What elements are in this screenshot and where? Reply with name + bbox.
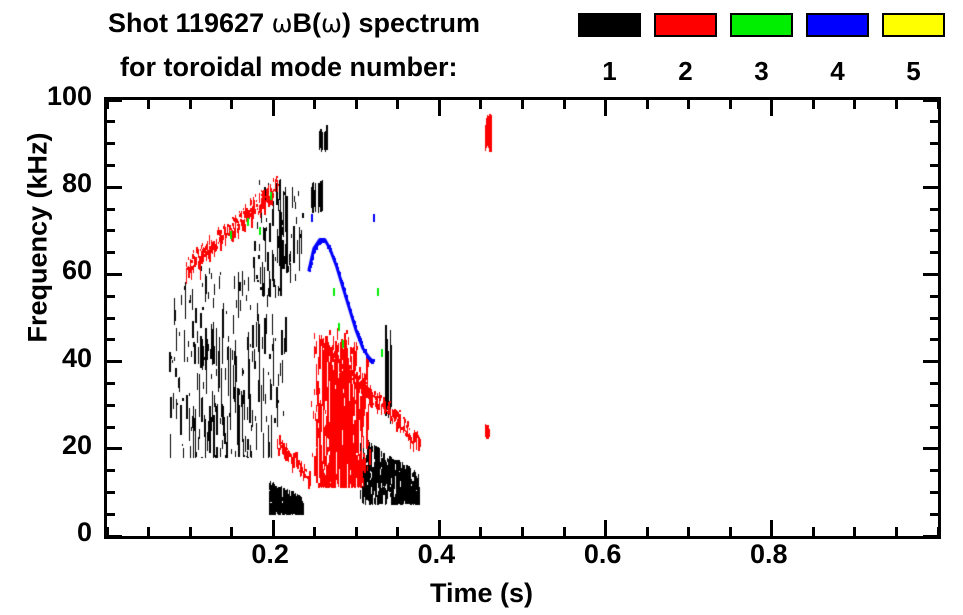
x-tick-top-0.80 bbox=[770, 100, 773, 116]
y-tick-right-10 bbox=[930, 491, 939, 494]
x-tick-0.70 bbox=[687, 527, 690, 536]
y-tick-right-50 bbox=[930, 317, 939, 320]
y-tick-right-45 bbox=[930, 338, 939, 341]
x-tick-0.65 bbox=[646, 527, 649, 536]
y-tick-right-85 bbox=[930, 164, 939, 167]
legend-label-2: 2 bbox=[654, 57, 717, 85]
y-tick-right-90 bbox=[930, 142, 939, 145]
y-tick-right-15 bbox=[930, 469, 939, 472]
legend-label-1: 1 bbox=[578, 57, 641, 85]
x-tick-top-0.85 bbox=[812, 100, 815, 109]
y-tick-10 bbox=[106, 491, 115, 494]
y-tick-50 bbox=[106, 317, 115, 320]
y-tick-right-30 bbox=[930, 404, 939, 407]
x-tick-0.80 bbox=[770, 520, 773, 536]
y-tick-right-25 bbox=[930, 426, 939, 429]
y-tick-20 bbox=[106, 447, 122, 450]
x-tick-0.25 bbox=[313, 527, 316, 536]
legend-swatch-3 bbox=[730, 13, 793, 37]
chart-title-line-2: for toroidal mode number: bbox=[120, 52, 458, 83]
x-tick-top-0.70 bbox=[687, 100, 690, 109]
y-tick-right-5 bbox=[930, 513, 939, 516]
x-tick-label-0.6: 0.6 bbox=[558, 541, 648, 568]
x-tick-0.10 bbox=[189, 527, 192, 536]
x-tick-0.90 bbox=[853, 527, 856, 536]
plot-area bbox=[107, 100, 938, 536]
y-tick-label-20: 20 bbox=[12, 432, 92, 459]
x-tick-top-0.15 bbox=[230, 100, 233, 109]
x-tick-0.75 bbox=[729, 527, 732, 536]
x-tick-top-0.00 bbox=[106, 100, 109, 109]
y-tick-right-35 bbox=[930, 382, 939, 385]
x-tick-0.15 bbox=[230, 527, 233, 536]
y-tick-85 bbox=[106, 164, 115, 167]
y-tick-right-75 bbox=[930, 208, 939, 211]
x-tick-0.30 bbox=[355, 527, 358, 536]
y-tick-60 bbox=[106, 273, 122, 276]
y-tick-right-55 bbox=[930, 295, 939, 298]
x-tick-top-0.95 bbox=[895, 100, 898, 109]
omega-symbol-2: ω bbox=[321, 9, 342, 38]
x-tick-0.35 bbox=[396, 527, 399, 536]
x-tick-0.60 bbox=[604, 520, 607, 536]
x-tick-top-1.00 bbox=[937, 100, 940, 109]
y-axis-label: Frequency (kHz) bbox=[23, 118, 54, 358]
x-tick-top-0.60 bbox=[604, 100, 607, 116]
x-tick-top-0.35 bbox=[396, 100, 399, 109]
x-tick-top-0.75 bbox=[729, 100, 732, 109]
x-tick-0.45 bbox=[479, 527, 482, 536]
y-tick-right-80 bbox=[923, 186, 939, 189]
x-tick-0.50 bbox=[521, 527, 524, 536]
x-axis-tick-labels: 0.20.40.60.8 bbox=[0, 541, 963, 581]
y-tick-right-20 bbox=[923, 447, 939, 450]
y-tick-right-65 bbox=[930, 251, 939, 254]
legend-label-3: 3 bbox=[730, 57, 793, 85]
spectrogram-data-canvas bbox=[107, 100, 938, 536]
x-tick-top-0.50 bbox=[521, 100, 524, 109]
legend-swatch-4 bbox=[806, 13, 869, 37]
x-tick-top-0.65 bbox=[646, 100, 649, 109]
y-tick-75 bbox=[106, 208, 115, 211]
x-tick-top-0.30 bbox=[355, 100, 358, 109]
x-tick-top-0.40 bbox=[438, 100, 441, 116]
x-tick-top-0.55 bbox=[563, 100, 566, 109]
y-tick-80 bbox=[106, 186, 122, 189]
x-tick-0.85 bbox=[812, 527, 815, 536]
y-tick-90 bbox=[106, 142, 115, 145]
x-tick-top-0.25 bbox=[313, 100, 316, 109]
x-tick-0.00 bbox=[106, 527, 109, 536]
x-tick-top-0.45 bbox=[479, 100, 482, 109]
legend-label-4: 4 bbox=[806, 57, 869, 85]
x-tick-label-0.2: 0.2 bbox=[225, 541, 315, 568]
y-tick-right-60 bbox=[923, 273, 939, 276]
y-tick-45 bbox=[106, 338, 115, 341]
omega-symbol-1: ω bbox=[272, 9, 293, 38]
legend-swatch-1 bbox=[578, 13, 641, 37]
x-tick-1.00 bbox=[937, 527, 940, 536]
y-tick-30 bbox=[106, 404, 115, 407]
chart-title-line-1: Shot 119627 ωB(ω) spectrum bbox=[108, 8, 480, 39]
x-tick-top-0.20 bbox=[272, 100, 275, 116]
title-suffix: ) spectrum bbox=[342, 8, 480, 38]
y-tick-15 bbox=[106, 469, 115, 472]
y-tick-70 bbox=[106, 229, 115, 232]
x-tick-0.55 bbox=[563, 527, 566, 536]
x-tick-top-0.10 bbox=[189, 100, 192, 109]
y-tick-55 bbox=[106, 295, 115, 298]
legend-label-5: 5 bbox=[882, 57, 945, 85]
legend: 12345 bbox=[578, 13, 948, 91]
title-prefix: Shot 119627 bbox=[108, 8, 272, 38]
x-tick-top-0.90 bbox=[853, 100, 856, 109]
x-tick-label-0.8: 0.8 bbox=[724, 541, 814, 568]
y-tick-label-100: 100 bbox=[12, 83, 92, 110]
y-tick-right-70 bbox=[930, 229, 939, 232]
y-tick-35 bbox=[106, 382, 115, 385]
spectrogram-figure: Shot 119627 ωB(ω) spectrum for toroidal … bbox=[0, 0, 963, 615]
y-tick-65 bbox=[106, 251, 115, 254]
legend-swatch-2 bbox=[654, 13, 717, 37]
x-tick-0.40 bbox=[438, 520, 441, 536]
y-tick-25 bbox=[106, 426, 115, 429]
plot-frame bbox=[104, 97, 941, 539]
x-axis-label: Time (s) bbox=[0, 578, 963, 609]
y-tick-right-40 bbox=[923, 360, 939, 363]
y-tick-right-95 bbox=[930, 120, 939, 123]
y-tick-95 bbox=[106, 120, 115, 123]
x-tick-0.95 bbox=[895, 527, 898, 536]
legend-swatch-5 bbox=[882, 13, 945, 37]
x-tick-label-0.4: 0.4 bbox=[391, 541, 481, 568]
x-tick-0.20 bbox=[272, 520, 275, 536]
title-mid: B( bbox=[293, 8, 322, 38]
x-tick-0.05 bbox=[147, 527, 150, 536]
y-tick-40 bbox=[106, 360, 122, 363]
y-tick-5 bbox=[106, 513, 115, 516]
x-tick-top-0.05 bbox=[147, 100, 150, 109]
